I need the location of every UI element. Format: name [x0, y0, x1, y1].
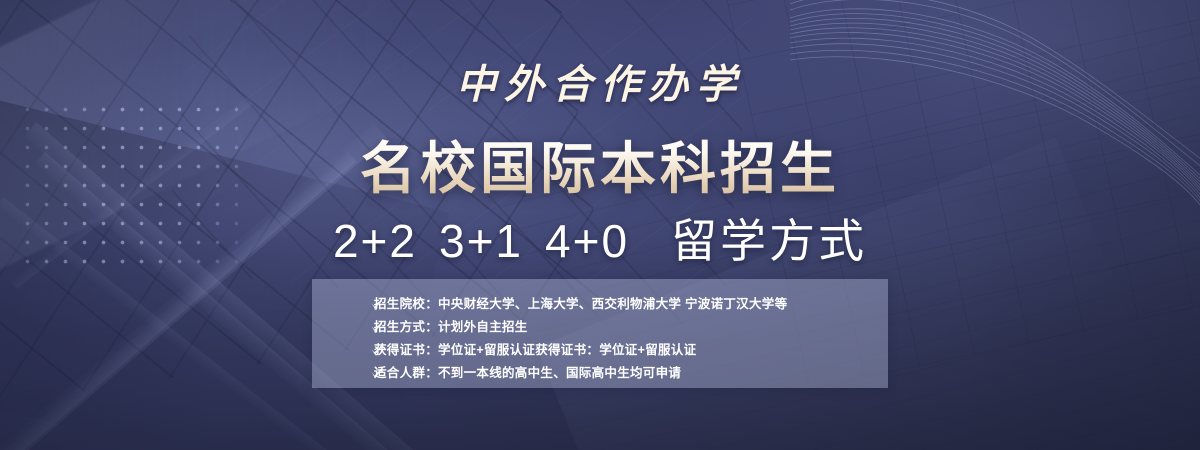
study-mode-1: 2+2 — [333, 215, 417, 267]
study-mode-3: 4+0 — [545, 215, 629, 267]
list-item-label: 获得证书：学位证+留服认证获得证书：学位证+留服认证 — [374, 339, 696, 358]
list-item: 适合人群：不到一本线的高中生、国际高中生均可申请 — [312, 361, 888, 382]
list-item-label: 招生方式：计划外自主招生 — [374, 316, 528, 335]
study-mode-2: 3+1 — [439, 215, 523, 267]
list-item: 招生方式：计划外自主招生 — [312, 315, 888, 336]
list-item-label: 适合人群：不到一本线的高中生、国际高中生均可申请 — [374, 362, 681, 381]
banner-content: 中外合作办学 名校国际本科招生 2+23+14+0留学方式 招生院校：中央财经大… — [0, 0, 1200, 450]
check-icon — [370, 319, 384, 333]
info-panel: 招生院校：中央财经大学、上海大学、西交利物浦大学 宁波诺丁汉大学等 招生方式：计… — [312, 279, 888, 388]
calligraphy-title: 中外合作办学 — [0, 52, 1200, 110]
check-icon — [370, 365, 384, 379]
banner-headline: 名校国际本科招生 — [0, 124, 1200, 205]
list-item-label: 招生院校：中央财经大学、上海大学、西交利物浦大学 宁波诺丁汉大学等 — [374, 293, 787, 312]
promo-banner: 中外合作办学 名校国际本科招生 2+23+14+0留学方式 招生院校：中央财经大… — [0, 0, 1200, 450]
list-item: 招生院校：中央财经大学、上海大学、西交利物浦大学 宁波诺丁汉大学等 — [312, 292, 888, 313]
study-modes-line: 2+23+14+0留学方式 — [0, 205, 1200, 271]
list-item: 获得证书：学位证+留服认证获得证书：学位证+留服认证 — [312, 338, 888, 359]
check-icon — [370, 342, 384, 356]
info-list: 招生院校：中央财经大学、上海大学、西交利物浦大学 宁波诺丁汉大学等 招生方式：计… — [312, 279, 888, 382]
check-icon — [370, 296, 384, 310]
study-mode-suffix: 留学方式 — [671, 215, 867, 267]
